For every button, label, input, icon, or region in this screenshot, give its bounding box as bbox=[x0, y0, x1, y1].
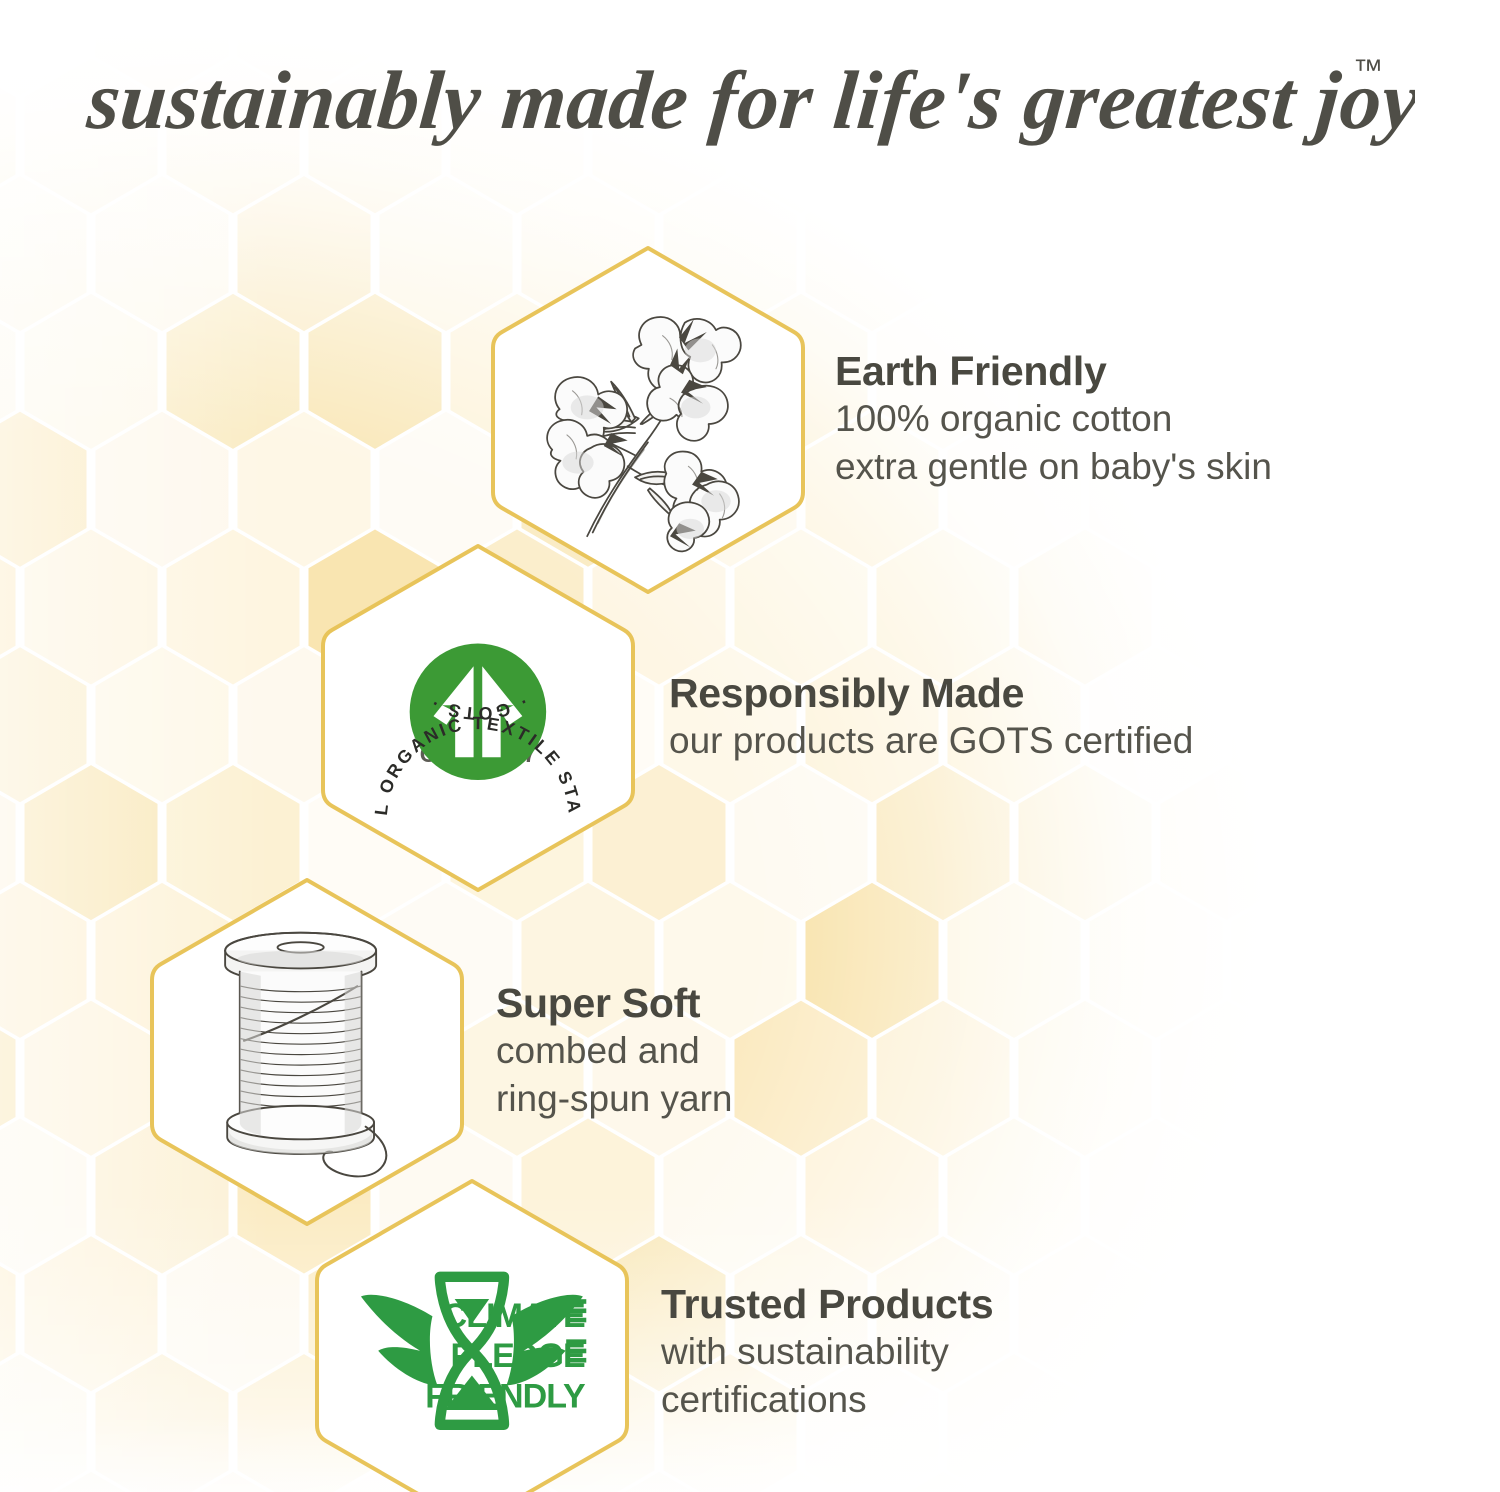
feature-subtitle: with sustainability certifications bbox=[661, 1328, 993, 1424]
feature-title: Trusted Products bbox=[661, 1282, 993, 1328]
cotton-plant-sketch-icon bbox=[532, 285, 764, 556]
feature-subtitle-line: certifications bbox=[661, 1376, 993, 1424]
feature-subtitle: our products are GOTS certified bbox=[669, 717, 1193, 765]
sustainability-infographic: sustainably made for life's greatest joy… bbox=[0, 0, 1500, 1492]
hex-content-climate-pledge: CLIMATE PLEDGE FRIENDLY bbox=[356, 1218, 588, 1489]
gots-organic-seal-icon: GLOBAL ORGANIC TEXTILE STANDARD · GOTS ·… bbox=[371, 667, 585, 768]
feature-text-super-soft: Super Soft combed and ring-spun yarn bbox=[468, 981, 733, 1123]
feature-title: Earth Friendly bbox=[835, 349, 1272, 395]
winged-hourglass-icon bbox=[356, 1218, 588, 1489]
hex-card-trusted-products: CLIMATE PLEDGE FRIENDLY bbox=[311, 1175, 633, 1492]
feature-subtitle-line: 100% organic cotton bbox=[835, 395, 1272, 443]
feature-responsibly-made: GLOBAL ORGANIC TEXTILE STANDARD · GOTS ·… bbox=[317, 540, 1193, 896]
feature-text-earth-friendly: Earth Friendly 100% organic cotton extra… bbox=[809, 349, 1272, 491]
trademark-symbol: ™ bbox=[1353, 54, 1383, 87]
feature-subtitle-line: combed and bbox=[496, 1027, 733, 1075]
headline-script-text: sustainably made for life's greatest joy… bbox=[85, 44, 1415, 164]
feature-text-trusted-products: Trusted Products with sustainability cer… bbox=[633, 1282, 993, 1424]
feature-title: Super Soft bbox=[496, 981, 733, 1027]
thread-spool-sketch-icon bbox=[191, 917, 423, 1188]
feature-title: Responsibly Made bbox=[669, 671, 1193, 717]
feature-trusted-products: CLIMATE PLEDGE FRIENDLY bbox=[311, 1175, 993, 1492]
feature-subtitle-line: extra gentle on baby's skin bbox=[835, 443, 1272, 491]
hex-content-cotton bbox=[532, 285, 764, 556]
feature-subtitle-line: ring-spun yarn bbox=[496, 1075, 733, 1123]
feature-text-responsibly-made: Responsibly Made our products are GOTS c… bbox=[639, 671, 1193, 765]
feature-subtitle: 100% organic cotton extra gentle on baby… bbox=[835, 395, 1272, 491]
gots-circular-mark: GLOBAL ORGANIC TEXTILE STANDARD · GOTS · bbox=[362, 583, 594, 854]
headline-banner: sustainably made for life's greatest joy… bbox=[0, 44, 1500, 164]
hex-content-spool bbox=[191, 917, 423, 1188]
hex-card-responsibly-made: GLOBAL ORGANIC TEXTILE STANDARD · GOTS ·… bbox=[317, 540, 639, 896]
headline-label: sustainably made for life's greatest joy bbox=[85, 54, 1415, 146]
feature-subtitle: combed and ring-spun yarn bbox=[496, 1027, 733, 1123]
feature-subtitle-line: with sustainability bbox=[661, 1328, 993, 1376]
feature-subtitle-line: our products are GOTS certified bbox=[669, 717, 1193, 765]
hex-content-gots: GLOBAL ORGANIC TEXTILE STANDARD · GOTS ·… bbox=[362, 583, 594, 854]
